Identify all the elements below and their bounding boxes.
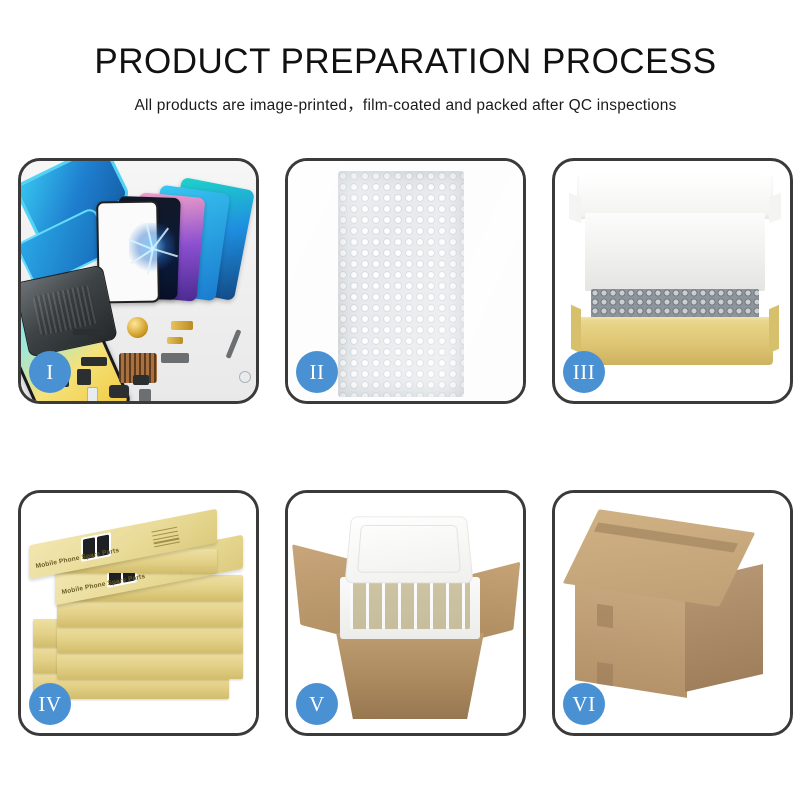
step-badge-5: V	[296, 683, 338, 725]
process-step-panel-5[interactable]: V	[285, 490, 526, 736]
step-badge-1: I	[29, 351, 71, 393]
step-badge-6: VI	[563, 683, 605, 725]
process-step-panel-3[interactable]: III	[552, 158, 793, 404]
step-badge-2: II	[296, 351, 338, 393]
process-step-panel-6[interactable]: VI	[552, 490, 793, 736]
page-title: PRODUCT PREPARATION PROCESS	[0, 44, 811, 81]
process-step-panel-2[interactable]: II	[285, 158, 526, 404]
process-step-panel-4[interactable]: Mobile Phone Spare Parts Mobile Phone Sp…	[18, 490, 259, 736]
page-subtitle: All products are image-printed，film-coat…	[0, 93, 811, 115]
process-steps-grid: I II III	[18, 158, 794, 736]
step-badge-3: III	[563, 351, 605, 393]
process-step-panel-1[interactable]: I	[18, 158, 259, 404]
step-badge-4: IV	[29, 683, 71, 725]
page-header: PRODUCT PREPARATION PROCESS All products…	[0, 0, 811, 115]
